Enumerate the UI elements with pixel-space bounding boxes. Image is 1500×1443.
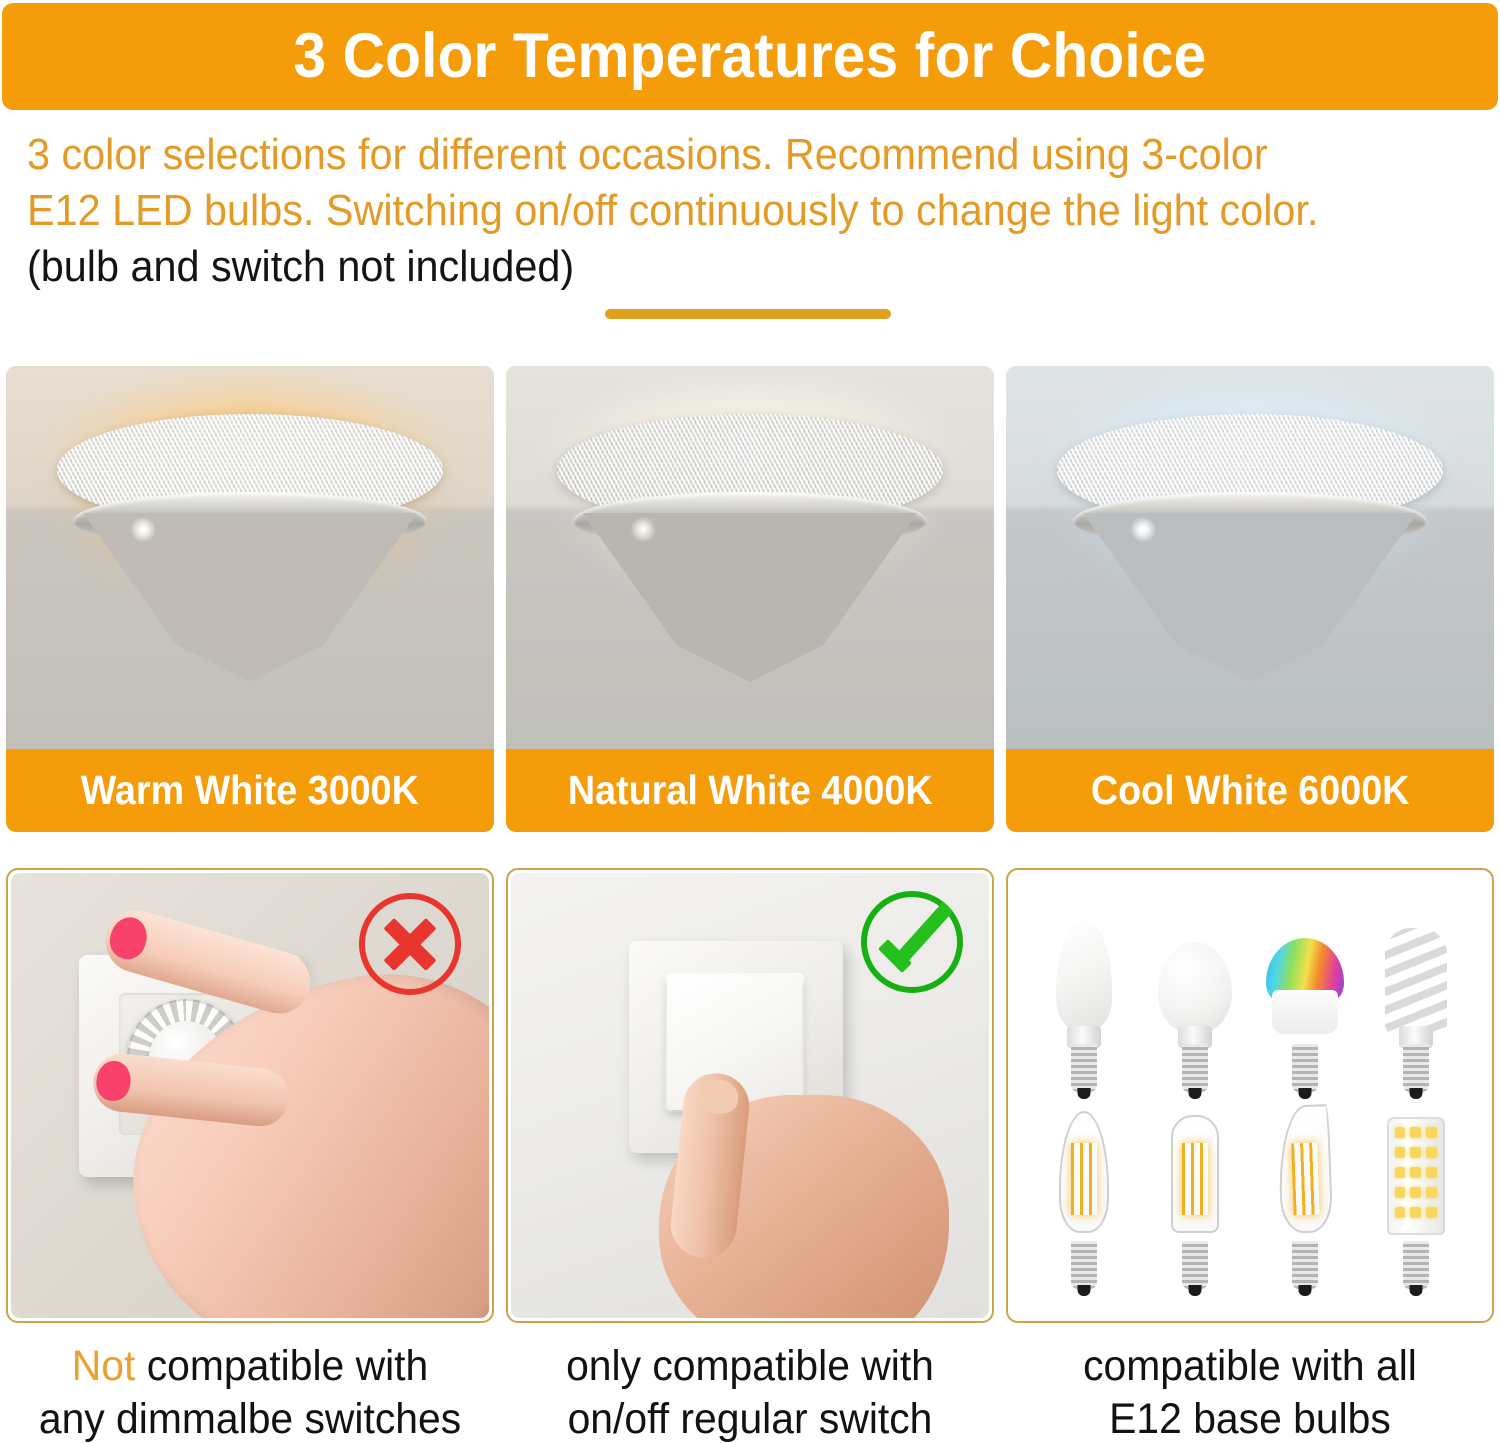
frosted-golf-bulb-icon [1147, 902, 1243, 1092]
x-mark-icon [359, 893, 461, 995]
rgb-skirt [1272, 990, 1338, 1034]
ceiling-light-photo-cool [1006, 366, 1494, 749]
label-text: Natural White 4000K [568, 770, 933, 811]
compatibility-captions: Not compatible with any dimmalbe switche… [6, 1330, 1494, 1443]
compatibility-card-dimmer [6, 868, 494, 1323]
e12-base [1182, 1241, 1208, 1289]
rgb-color-bulb-icon [1257, 902, 1353, 1092]
label-text: Warm White 3000K [81, 770, 419, 811]
fixture-crystal-cone [83, 510, 417, 682]
intro-note: (bulb and switch not included) [27, 239, 1381, 295]
intro-line-1: 3 color selections for different occasio… [27, 127, 1381, 183]
color-temperature-label-cool: Cool White 6000K [1006, 749, 1494, 832]
compatibility-gallery [6, 868, 1494, 1323]
e12-base [1403, 1044, 1429, 1092]
filament-flame-bulb-icon [1257, 1099, 1353, 1289]
e12-base [1403, 1241, 1429, 1289]
crystal-ceiling-light-icon [551, 414, 949, 684]
room-backdrop [6, 366, 494, 749]
bulb-glass [1171, 1115, 1219, 1233]
corn-led-bulb-icon [1368, 1099, 1464, 1289]
caption-line-2: on/off regular switch [518, 1393, 982, 1443]
caption-line-1: Not compatible with [18, 1340, 482, 1393]
room-backdrop [1006, 366, 1494, 749]
caption-highlight: Not [72, 1342, 136, 1390]
dimmer-switch-photo [11, 873, 489, 1318]
room-backdrop [506, 366, 994, 749]
intro-text-block: 3 color selections for different occasio… [27, 127, 1467, 295]
frosted-candle-bulb-icon [1036, 902, 1132, 1092]
filament-tube-bulb-icon [1147, 1099, 1243, 1289]
label-text: Cool White 6000K [1091, 770, 1410, 811]
intro-line-2: E12 LED bulbs. Switching on/off continuo… [27, 183, 1381, 239]
caption-line-2: any dimmalbe switches [18, 1393, 482, 1443]
caption-line-1: compatible with all [1018, 1340, 1482, 1393]
cfl-spiral-bulb-icon [1368, 902, 1464, 1092]
caption-bulbs: compatible with all E12 base bulbs [1006, 1330, 1494, 1443]
e12-base [1071, 1241, 1097, 1289]
e12-base [1292, 1044, 1318, 1092]
compatibility-card-bulbs [1006, 868, 1494, 1323]
bulb-glass [1387, 1117, 1445, 1235]
bulb-glass [1385, 928, 1447, 1036]
bulb-glass [1277, 1104, 1333, 1234]
bulb-glass [1056, 920, 1112, 1032]
caption-rest: compatible with [147, 1342, 429, 1390]
header-banner: 3 Color Temperatures for Choice [2, 3, 1498, 110]
rocker-switch-photo [511, 873, 989, 1318]
section-divider [605, 309, 891, 319]
caption-dimmer: Not compatible with any dimmalbe switche… [6, 1330, 494, 1443]
e12-base [1071, 1044, 1097, 1092]
color-temperature-label-natural: Natural White 4000K [506, 749, 994, 832]
caption-rocker: only compatible with on/off regular swit… [506, 1330, 994, 1443]
bulb-lineup [1011, 873, 1489, 1318]
compatibility-card-rocker [506, 868, 994, 1323]
page-title: 3 Color Temperatures for Choice [293, 25, 1206, 88]
crystal-ceiling-light-icon [1051, 414, 1449, 684]
bulb-glass [1266, 938, 1344, 1034]
filament [1291, 1142, 1319, 1215]
ceiling-light-photo-natural [506, 366, 994, 749]
filament [1182, 1143, 1208, 1215]
led-chips [1395, 1127, 1437, 1223]
color-temperature-label-warm: Warm White 3000K [6, 749, 494, 832]
color-temperature-gallery: Warm White 3000K Natural White 4000K [6, 366, 1494, 832]
e12-base [1292, 1241, 1318, 1289]
caption-line-2: E12 base bulbs [1018, 1393, 1482, 1443]
bulb-glass [1059, 1111, 1109, 1233]
ceiling-light-photo-warm [6, 366, 494, 749]
e12-base [1182, 1044, 1208, 1092]
filament-candle-bulb-icon [1036, 1099, 1132, 1289]
filament [1071, 1143, 1097, 1215]
check-mark-icon [861, 891, 963, 993]
color-temperature-card-warm: Warm White 3000K [6, 366, 494, 832]
caption-line-1: only compatible with [518, 1340, 982, 1393]
bulb-glass [1158, 942, 1232, 1034]
infographic-page: 3 Color Temperatures for Choice 3 color … [0, 0, 1500, 1443]
color-temperature-card-cool: Cool White 6000K [1006, 366, 1494, 832]
fixture-crystal-cone [583, 510, 917, 682]
crystal-ceiling-light-icon [51, 414, 449, 684]
color-temperature-card-natural: Natural White 4000K [506, 366, 994, 832]
fixture-crystal-cone [1083, 510, 1417, 682]
